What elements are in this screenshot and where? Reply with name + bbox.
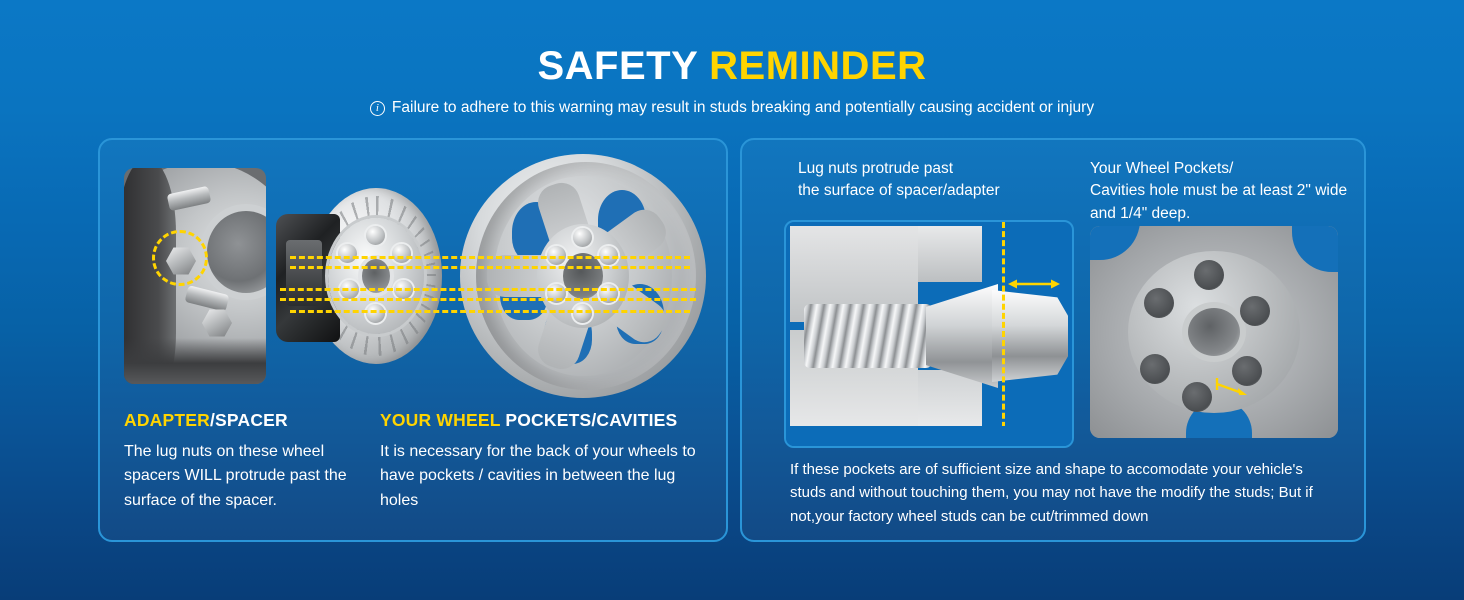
page-title-primary: SAFETY [537,44,709,88]
alignment-line [280,298,696,301]
highlight-dashed-circle-icon [152,230,208,286]
lug-pocket [1144,288,1174,318]
caption-heading: ADAPTER/SPACER [124,410,364,431]
lug-nut [366,226,385,245]
protrusion-arrow-icon [1008,278,1060,290]
brake-assembly-illustration [276,188,452,364]
lug-pocket [1194,260,1224,290]
page-title: SAFETY REMINDER [0,46,1464,86]
lug-nut [338,244,357,263]
bolt-thread [804,304,932,368]
left-panel-media [100,140,726,402]
caption-body: It is necessary for the back of your whe… [380,440,700,513]
alignment-line [290,256,690,259]
caption-heading-accent: ADAPTER [124,410,210,430]
alignment-line [280,288,696,291]
caption-body: The lug nuts on these wheel spacers WILL… [124,440,364,513]
wheel-center-bore [563,253,603,299]
caption-heading-rest: /SPACER [210,410,288,430]
lug-pocket [1240,296,1270,326]
alignment-line [290,310,690,313]
panels-container: ADAPTER/SPACER The lug nuts on these whe… [98,138,1366,542]
right-caption-lugnuts: Lug nuts protrude past the surface of sp… [798,158,1068,203]
photo-shadow [124,338,266,384]
page-title-accent: REMINDER [709,44,926,88]
caption-wheel-pockets: YOUR WHEEL POCKETS/CAVITIES It is necess… [380,410,700,513]
bolt-protrusion-diagram [784,220,1074,448]
warning-subtitle-text: Failure to adhere to this warning may re… [392,99,1094,117]
wheel-illustration [460,154,706,398]
caption-adapter-spacer: ADAPTER/SPACER The lug nuts on these whe… [124,410,364,513]
warning-subtitle-row: i Failure to adhere to this warning may … [0,99,1464,117]
right-panel-footer-note: If these pockets are of sufficient size … [790,458,1334,528]
caption-heading-rest: POCKETS/CAVITIES [505,410,677,430]
right-panel: Lug nuts protrude past the surface of sp… [740,138,1366,542]
diagram-base-strip [786,426,1072,446]
caption-heading-accent: YOUR WHEEL [380,410,505,430]
surface-reference-line [1002,222,1005,446]
lug-hole [573,304,592,323]
alignment-line [290,266,690,269]
caption-heading: YOUR WHEEL POCKETS/CAVITIES [380,410,700,431]
lug-pocket [1182,382,1212,412]
lug-nut [392,244,411,263]
hub-plate [328,218,424,334]
lug-pocket [1140,354,1170,384]
wheel-pocket-photo [1090,226,1338,438]
adapter-spacer-photo [124,168,266,384]
lug-hole [573,228,592,247]
right-caption-pockets: Your Wheel Pockets/ Cavities hole must b… [1090,158,1370,225]
pocket-measurement-arrow-icon [1214,376,1248,396]
info-icon: i [370,101,385,116]
left-panel: ADAPTER/SPACER The lug nuts on these whe… [98,138,728,542]
wheel-center-bore [1182,302,1246,362]
header: SAFETY REMINDER i Failure to adhere to t… [0,0,1464,117]
left-panel-captions: ADAPTER/SPACER The lug nuts on these whe… [100,402,726,540]
lug-nut [366,304,385,323]
